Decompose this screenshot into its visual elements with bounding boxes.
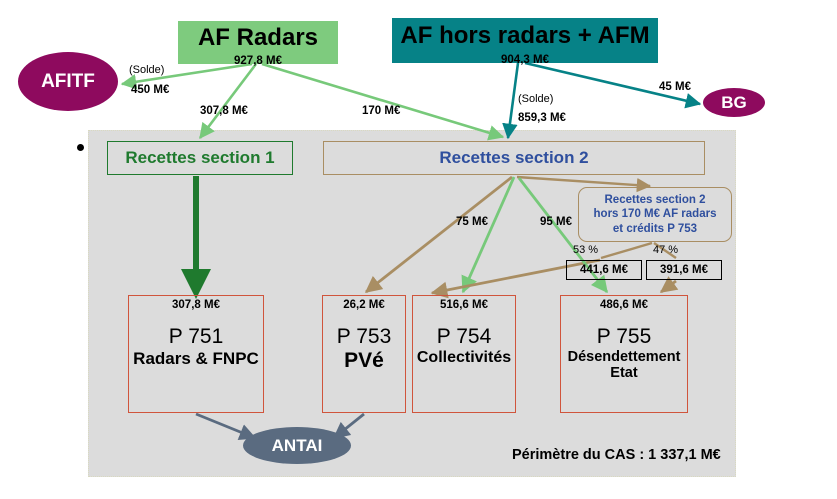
p755-subtitle-line1: Désendettement: [568, 349, 681, 365]
flow-label-solde-section2: (Solde): [518, 93, 553, 105]
split-left-amount: 441,6 M€: [580, 264, 628, 276]
section1-label: Recettes section 1: [125, 148, 274, 168]
section-box-recettes-2[interactable]: Recettes section 2: [323, 141, 705, 175]
p753-title: P 753: [337, 325, 392, 349]
diagram-canvas: AF Radars 927,8 M€ AF hors radars + AFM …: [0, 0, 837, 499]
p754-subtitle: Collectivités: [417, 349, 511, 367]
section-box-recettes-1[interactable]: Recettes section 1: [107, 141, 293, 175]
callout-line-2: hors 170 M€ AF radars: [594, 207, 717, 221]
callout-line-1: Recettes section 2: [594, 193, 717, 207]
bullet-marker: [77, 144, 84, 151]
arrow-section2-to-callout: [517, 177, 650, 186]
arrow-p751-to-antai: [196, 414, 255, 438]
p755-title: P 755: [597, 325, 652, 349]
program-box-p751[interactable]: 307,8 M€ P 751 Radars & FNPC: [128, 295, 264, 413]
p751-subtitle: Radars & FNPC: [133, 349, 259, 368]
p751-title: P 751: [169, 325, 224, 349]
p754-title: P 754: [437, 325, 492, 349]
split-right-amount: 391,6 M€: [660, 264, 708, 276]
flow-label-section2-to-p754: 95 M€: [540, 216, 572, 228]
flow-label-afitf-amount: 450 M€: [131, 84, 169, 96]
program-box-p755[interactable]: 486,6 M€ P 755 Désendettement Etat: [560, 295, 688, 413]
p755-subtitle-line2: Etat: [610, 365, 637, 381]
split-left-percent: 53 %: [573, 244, 598, 256]
entity-bg[interactable]: BG: [703, 88, 765, 117]
arrow-hors-to-section2: [508, 63, 518, 138]
flow-label-section2-to-p753: 75 M€: [456, 216, 488, 228]
af-radars-title: AF Radars: [198, 26, 318, 50]
arrow-radars-to-section2: [262, 64, 503, 137]
bg-label: BG: [721, 93, 747, 113]
arrow-callout-to-split-left: [601, 243, 652, 258]
callout-line-3: et crédits P 753: [594, 222, 717, 236]
flow-label-hors-to-bg: 45 M€: [659, 81, 691, 93]
af-hors-radars-title: AF hors radars + AFM: [400, 24, 649, 48]
p754-value: 516,6 M€: [440, 299, 488, 311]
flow-label-radars-to-section2: 170 M€: [362, 105, 400, 117]
af-hors-radars-value: 904,3 M€: [392, 54, 658, 66]
arrow-section2-to-p753: [366, 177, 512, 292]
antai-label: ANTAI: [272, 436, 323, 456]
arrow-radars-to-section1: [200, 64, 256, 138]
p753-value: 26,2 M€: [343, 299, 385, 311]
callout-recettes-section2-note[interactable]: Recettes section 2 hors 170 M€ AF radars…: [578, 187, 732, 242]
split-left-amount-box[interactable]: 441,6 M€: [566, 260, 642, 280]
flow-label-radars-to-section1: 307,8 M€: [200, 105, 248, 117]
flow-label-hors-to-section2: 859,3 M€: [518, 112, 566, 124]
split-right-percent: 47 %: [653, 244, 678, 256]
p755-value: 486,6 M€: [600, 299, 648, 311]
flow-label-solde-afitf: (Solde): [129, 64, 164, 76]
entity-antai[interactable]: ANTAI: [243, 427, 351, 464]
arrow-layer: [0, 0, 837, 499]
program-box-p754[interactable]: 516,6 M€ P 754 Collectivités: [412, 295, 516, 413]
split-right-amount-box[interactable]: 391,6 M€: [646, 260, 722, 280]
cas-perimeter-total: Périmètre du CAS : 1 337,1 M€: [512, 447, 721, 463]
arrow-split-right-to-p755: [661, 281, 676, 292]
entity-afitf[interactable]: AFITF: [18, 52, 118, 111]
program-box-p753[interactable]: 26,2 M€ P 753 PVé: [322, 295, 406, 413]
af-radars-value: 927,8 M€: [178, 55, 338, 67]
p753-subtitle: PVé: [344, 349, 384, 373]
afitf-label: AFITF: [41, 71, 95, 93]
section2-label: Recettes section 2: [439, 148, 588, 168]
p751-value: 307,8 M€: [172, 299, 220, 311]
